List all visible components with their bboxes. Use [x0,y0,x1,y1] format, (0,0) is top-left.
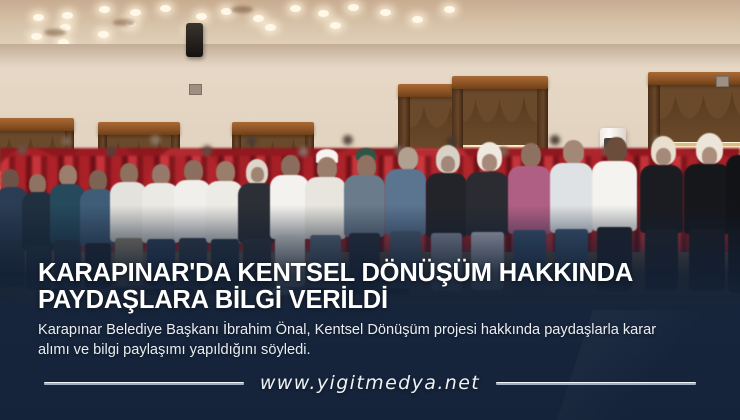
wall-switch-box [716,76,729,87]
divider-right [496,382,696,385]
ceiling-vent [44,29,66,36]
ceiling-light [253,15,264,22]
website-footer: www.yigitmedya.net [0,372,740,394]
ceiling-light [33,14,44,21]
ceiling-light [31,33,42,40]
ceiling-light [265,24,276,31]
ceiling-light [196,13,207,20]
ceiling-light [62,12,73,19]
ceiling-light [348,4,359,11]
wall-cornice-shadow [0,44,740,68]
ceiling-light [380,9,391,16]
ceiling-vent [231,6,253,13]
page-title: KARAPINAR'DA KENTSEL DÖNÜŞÜM HAKKINDA PA… [38,260,698,314]
ceiling-light [290,5,301,12]
ceiling-light [444,6,455,13]
ceiling-light [99,6,110,13]
divider-left [44,382,244,385]
article-summary: Karapınar Belediye Başkanı İbrahim Önal,… [38,321,678,360]
website-url[interactable]: www.yigitmedya.net [260,372,480,394]
wall-speaker [186,23,203,57]
ceiling-light [318,10,329,17]
ceiling-light [330,22,341,29]
ceiling-light [160,5,171,12]
ceiling-light [98,31,109,38]
ceiling-light [130,9,141,16]
ceiling-light [412,16,423,23]
wall-switch-box [189,84,202,95]
news-image-card: KARAPINAR'DA KENTSEL DÖNÜŞÜM HAKKINDA PA… [0,0,740,420]
ceiling-vent [113,19,135,26]
